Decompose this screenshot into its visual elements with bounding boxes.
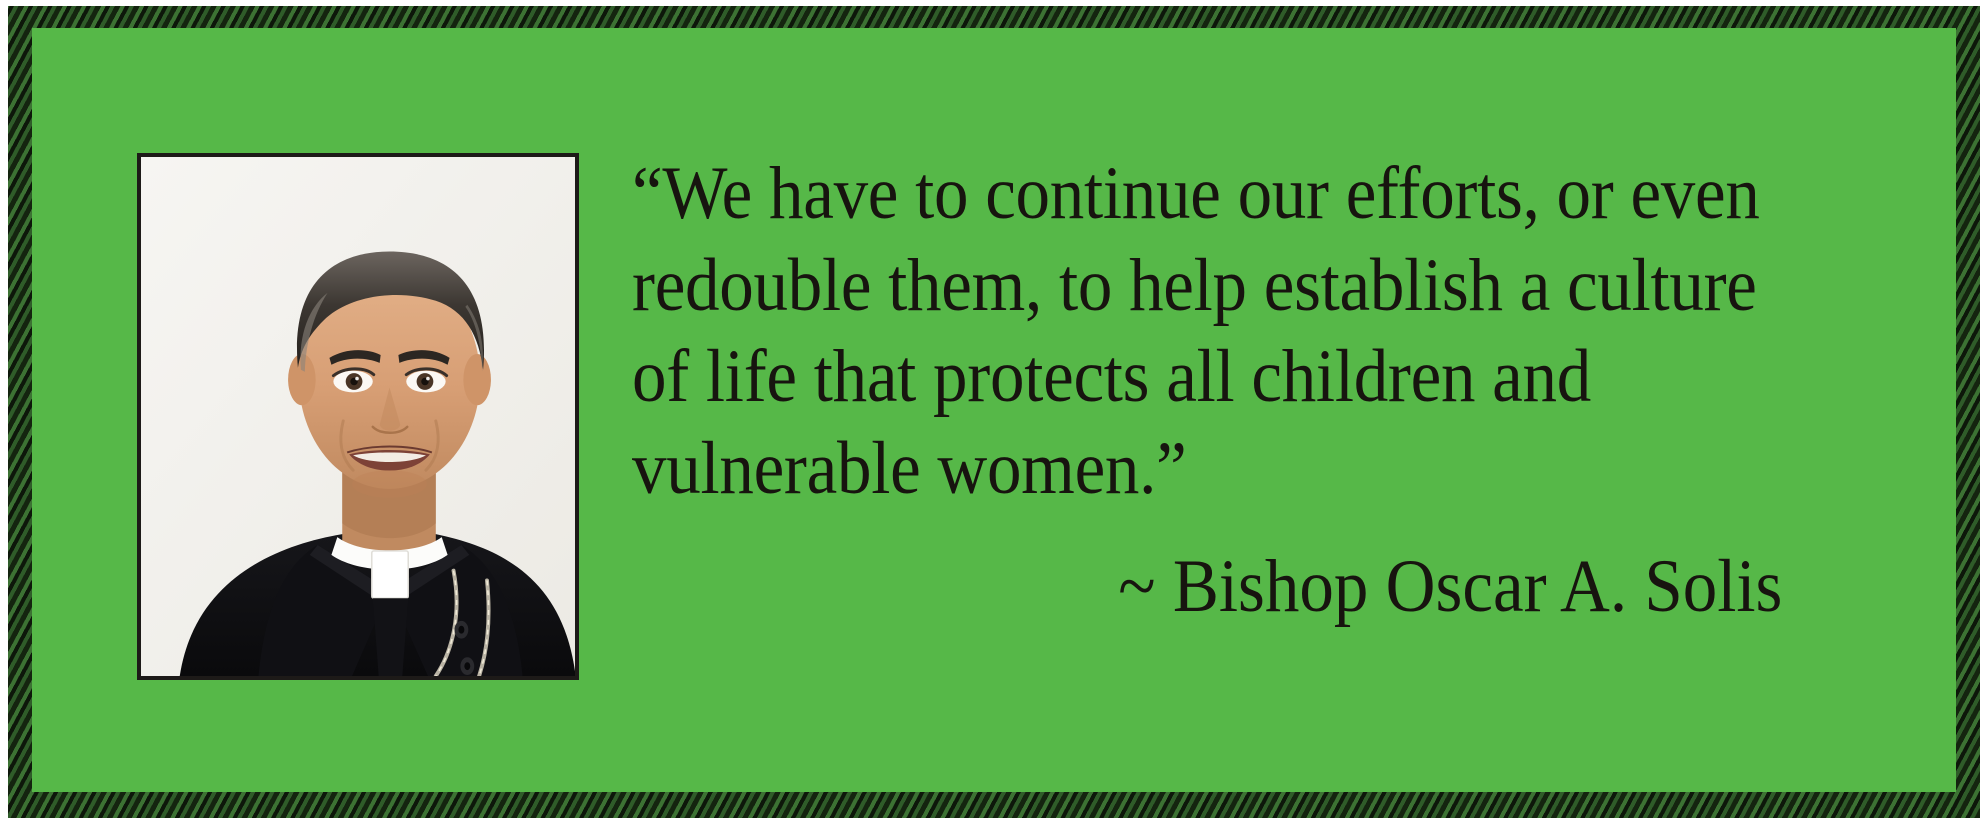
portrait-photo — [137, 153, 579, 680]
card-background: “We have to continue our efforts, or eve… — [32, 28, 1956, 792]
portrait-illustration — [141, 157, 575, 676]
quote-card-canvas: “We have to continue our efforts, or eve… — [0, 0, 1988, 828]
quote-attribution: ~ Bishop Oscar A. Solis — [734, 542, 1902, 632]
quote-text: “We have to continue our efforts, or eve… — [632, 148, 1800, 514]
quote-block: “We have to continue our efforts, or eve… — [632, 148, 1902, 632]
striped-frame-border: “We have to continue our efforts, or eve… — [8, 6, 1980, 818]
